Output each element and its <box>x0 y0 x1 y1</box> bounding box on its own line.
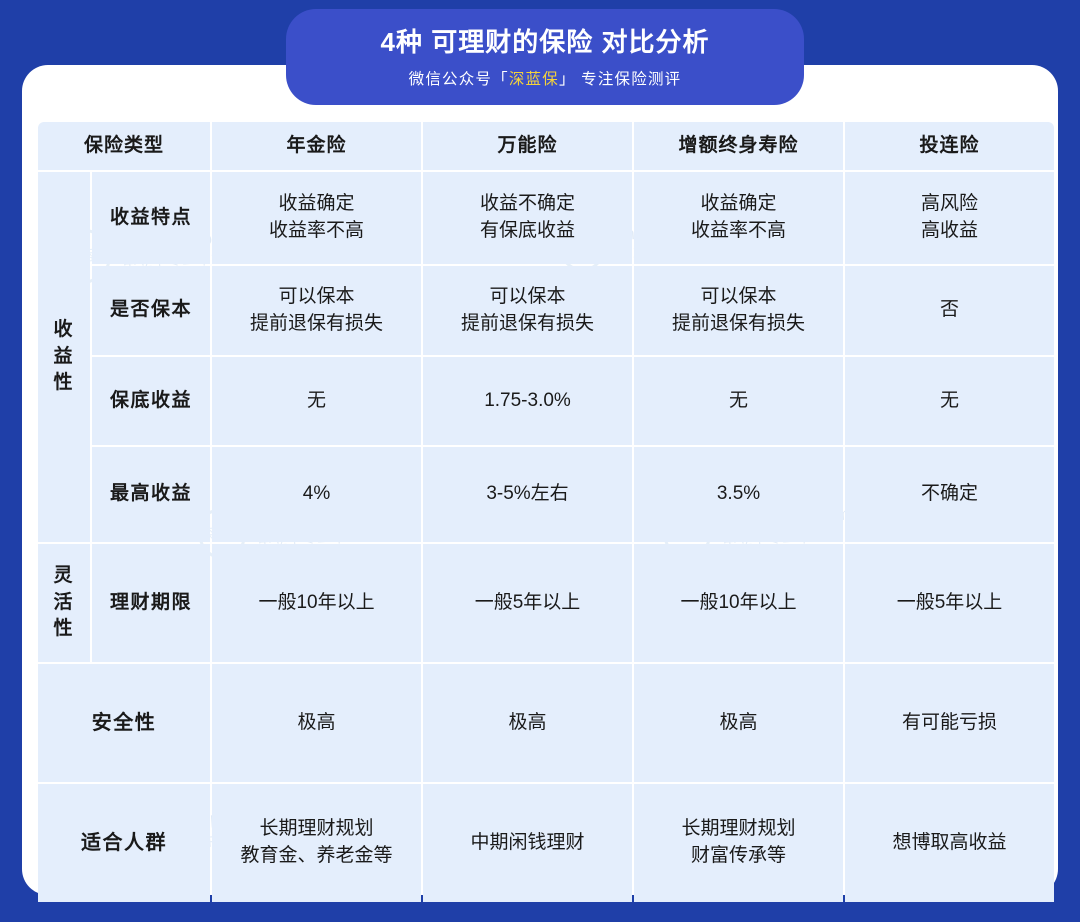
cell-r3-c0: 4% <box>212 447 421 542</box>
row-label-max-return: 最高收益 <box>92 447 210 542</box>
page-title: 4种 可理财的保险 对比分析 <box>381 27 710 58</box>
group-char: 活 <box>40 590 88 617</box>
cell-r2-c1: 1.75-3.0% <box>423 357 632 445</box>
cell-r1-c0: 可以保本 提前退保有损失 <box>212 266 421 355</box>
cell-line: 收益确定 <box>214 191 419 218</box>
cell-line: 提前退保有损失 <box>425 311 630 338</box>
cell-r5-c3: 有可能亏损 <box>845 664 1054 782</box>
group-char: 性 <box>40 616 88 643</box>
cell-r6-c1: 中期闲钱理财 <box>423 784 632 902</box>
row-label-target-audience: 适合人群 <box>38 784 210 902</box>
cell-line: 长期理财规划 <box>214 816 419 843</box>
group-char: 性 <box>40 370 88 397</box>
cell-r3-c3: 不确定 <box>845 447 1054 542</box>
row-label-profit-features: 收益特点 <box>92 172 210 264</box>
cell-line: 教育金、养老金等 <box>214 843 419 870</box>
header-col-annuity: 年金险 <box>212 122 421 170</box>
cell-r1-c3: 否 <box>845 266 1054 355</box>
table-row: 收 益 性 收益特点 收益确定 收益率不高 收益不确定 有保底收益 收益确定 收… <box>38 172 1054 264</box>
group-char: 收 <box>40 317 88 344</box>
table-row: 保底收益 无 1.75-3.0% 无 无 <box>38 357 1054 445</box>
cell-r6-c0: 长期理财规划 教育金、养老金等 <box>212 784 421 902</box>
header-col-investment-linked: 投连险 <box>845 122 1054 170</box>
group-char: 益 <box>40 344 88 371</box>
cell-r3-c1: 3-5%左右 <box>423 447 632 542</box>
cell-line: 中期闲钱理财 <box>425 830 630 857</box>
row-label-investment-term: 理财期限 <box>92 544 210 662</box>
cell-r2-c3: 无 <box>845 357 1054 445</box>
cell-r6-c3: 想博取高收益 <box>845 784 1054 902</box>
subtitle-brand: 深蓝保 <box>509 71 559 88</box>
cell-line: 否 <box>847 297 1052 324</box>
cell-line: 可以保本 <box>636 284 841 311</box>
cell-line: 高收益 <box>847 218 1052 245</box>
subtitle-suffix: 」 专注保险测评 <box>559 71 681 88</box>
cell-line: 财富传承等 <box>636 843 841 870</box>
cell-line: 收益不确定 <box>425 191 630 218</box>
comparison-table: 保险类型 年金险 万能险 增额终身寿险 投连险 收 益 性 收益特点 收益确定 … <box>36 120 1056 904</box>
cell-r5-c2: 极高 <box>634 664 843 782</box>
table-row: 适合人群 长期理财规划 教育金、养老金等 中期闲钱理财 长期理财规划 财富传承等… <box>38 784 1054 902</box>
group-label-flexibility: 灵 活 性 <box>38 544 90 662</box>
cell-r6-c2: 长期理财规划 财富传承等 <box>634 784 843 902</box>
subtitle-prefix: 微信公众号「 <box>409 71 509 88</box>
cell-line: 有保底收益 <box>425 218 630 245</box>
row-label-principal-protected: 是否保本 <box>92 266 210 355</box>
cell-r0-c3: 高风险 高收益 <box>845 172 1054 264</box>
table-row: 是否保本 可以保本 提前退保有损失 可以保本 提前退保有损失 可以保本 提前退保… <box>38 266 1054 355</box>
table-row: 灵 活 性 理财期限 一般10年以上 一般5年以上 一般10年以上 一般5年以上 <box>38 544 1054 662</box>
table-row: 最高收益 4% 3-5%左右 3.5% 不确定 <box>38 447 1054 542</box>
cell-r4-c0: 一般10年以上 <box>212 544 421 662</box>
cell-line: 高风险 <box>847 191 1052 218</box>
cell-line: 可以保本 <box>425 284 630 311</box>
cell-r5-c1: 极高 <box>423 664 632 782</box>
cell-line: 想博取高收益 <box>847 830 1052 857</box>
table-header-row: 保险类型 年金险 万能险 增额终身寿险 投连险 <box>38 122 1054 170</box>
cell-r3-c2: 3.5% <box>634 447 843 542</box>
header-col-increasing-whole-life: 增额终身寿险 <box>634 122 843 170</box>
cell-r2-c2: 无 <box>634 357 843 445</box>
cell-line: 可以保本 <box>214 284 419 311</box>
header-col-universal: 万能险 <box>423 122 632 170</box>
cell-r5-c0: 极高 <box>212 664 421 782</box>
group-char: 灵 <box>40 563 88 590</box>
page-subtitle: 微信公众号「深蓝保」 专注保险测评 <box>409 67 682 89</box>
row-label-safety: 安全性 <box>38 664 210 782</box>
row-label-guaranteed-return: 保底收益 <box>92 357 210 445</box>
cell-r0-c1: 收益不确定 有保底收益 <box>423 172 632 264</box>
cell-r4-c3: 一般5年以上 <box>845 544 1054 662</box>
cell-r1-c1: 可以保本 提前退保有损失 <box>423 266 632 355</box>
title-banner: 4种 可理财的保险 对比分析 微信公众号「深蓝保」 专注保险测评 <box>286 9 804 105</box>
cell-line: 提前退保有损失 <box>214 311 419 338</box>
cell-line: 收益率不高 <box>636 218 841 245</box>
cell-line: 提前退保有损失 <box>636 311 841 338</box>
cell-r4-c1: 一般5年以上 <box>423 544 632 662</box>
cell-line: 长期理财规划 <box>636 816 841 843</box>
cell-r2-c0: 无 <box>212 357 421 445</box>
table-row: 安全性 极高 极高 极高 有可能亏损 <box>38 664 1054 782</box>
cell-r0-c2: 收益确定 收益率不高 <box>634 172 843 264</box>
cell-r1-c2: 可以保本 提前退保有损失 <box>634 266 843 355</box>
group-label-profitability: 收 益 性 <box>38 172 90 542</box>
header-type-label: 保险类型 <box>38 122 210 170</box>
cell-line: 收益确定 <box>636 191 841 218</box>
cell-r4-c2: 一般10年以上 <box>634 544 843 662</box>
cell-line: 收益率不高 <box>214 218 419 245</box>
cell-r0-c0: 收益确定 收益率不高 <box>212 172 421 264</box>
